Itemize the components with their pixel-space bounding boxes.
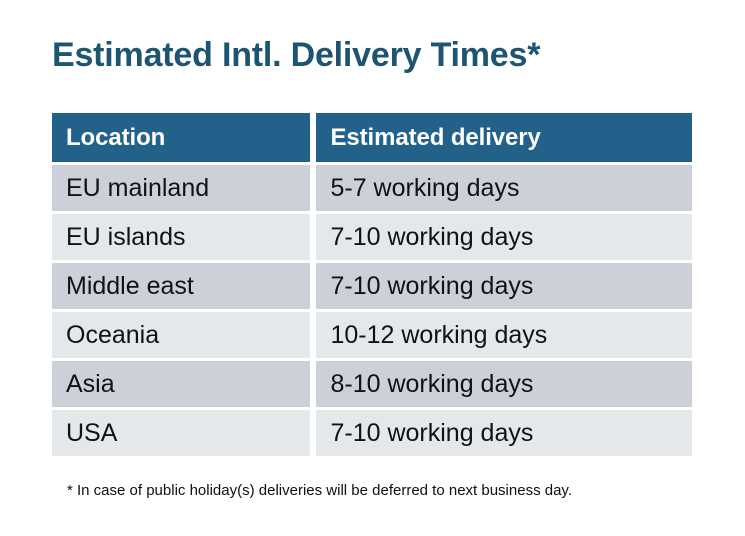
column-header-estimated-delivery: Estimated delivery — [316, 113, 692, 162]
footnote: * In case of public holiday(s) deliverie… — [67, 482, 572, 499]
table-row: EU mainland 5-7 working days — [52, 162, 692, 211]
cell-estimated-delivery: 7-10 working days — [316, 407, 692, 456]
cell-estimated-delivery: 7-10 working days — [316, 211, 692, 260]
table-row: EU islands 7-10 working days — [52, 211, 692, 260]
cell-estimated-delivery: 8-10 working days — [316, 358, 692, 407]
cell-estimated-delivery: 7-10 working days — [316, 260, 692, 309]
column-header-location: Location — [52, 113, 316, 162]
cell-location: EU mainland — [52, 162, 316, 211]
cell-location: Middle east — [52, 260, 316, 309]
table-row: Middle east 7-10 working days — [52, 260, 692, 309]
table-body: EU mainland 5-7 working days EU islands … — [52, 162, 692, 456]
cell-estimated-delivery: 10-12 working days — [316, 309, 692, 358]
cell-location: EU islands — [52, 211, 316, 260]
cell-location: Oceania — [52, 309, 316, 358]
table-header-row: Location Estimated delivery — [52, 113, 692, 162]
table-row: Oceania 10-12 working days — [52, 309, 692, 358]
delivery-times-page: Estimated Intl. Delivery Times* Location… — [0, 0, 745, 536]
cell-estimated-delivery: 5-7 working days — [316, 162, 692, 211]
cell-location: USA — [52, 407, 316, 456]
table-row: Asia 8-10 working days — [52, 358, 692, 407]
table-row: USA 7-10 working days — [52, 407, 692, 456]
delivery-times-table: Location Estimated delivery EU mainland … — [52, 113, 692, 456]
table-header: Location Estimated delivery — [52, 113, 692, 162]
cell-location: Asia — [52, 358, 316, 407]
page-title: Estimated Intl. Delivery Times* — [52, 36, 540, 75]
